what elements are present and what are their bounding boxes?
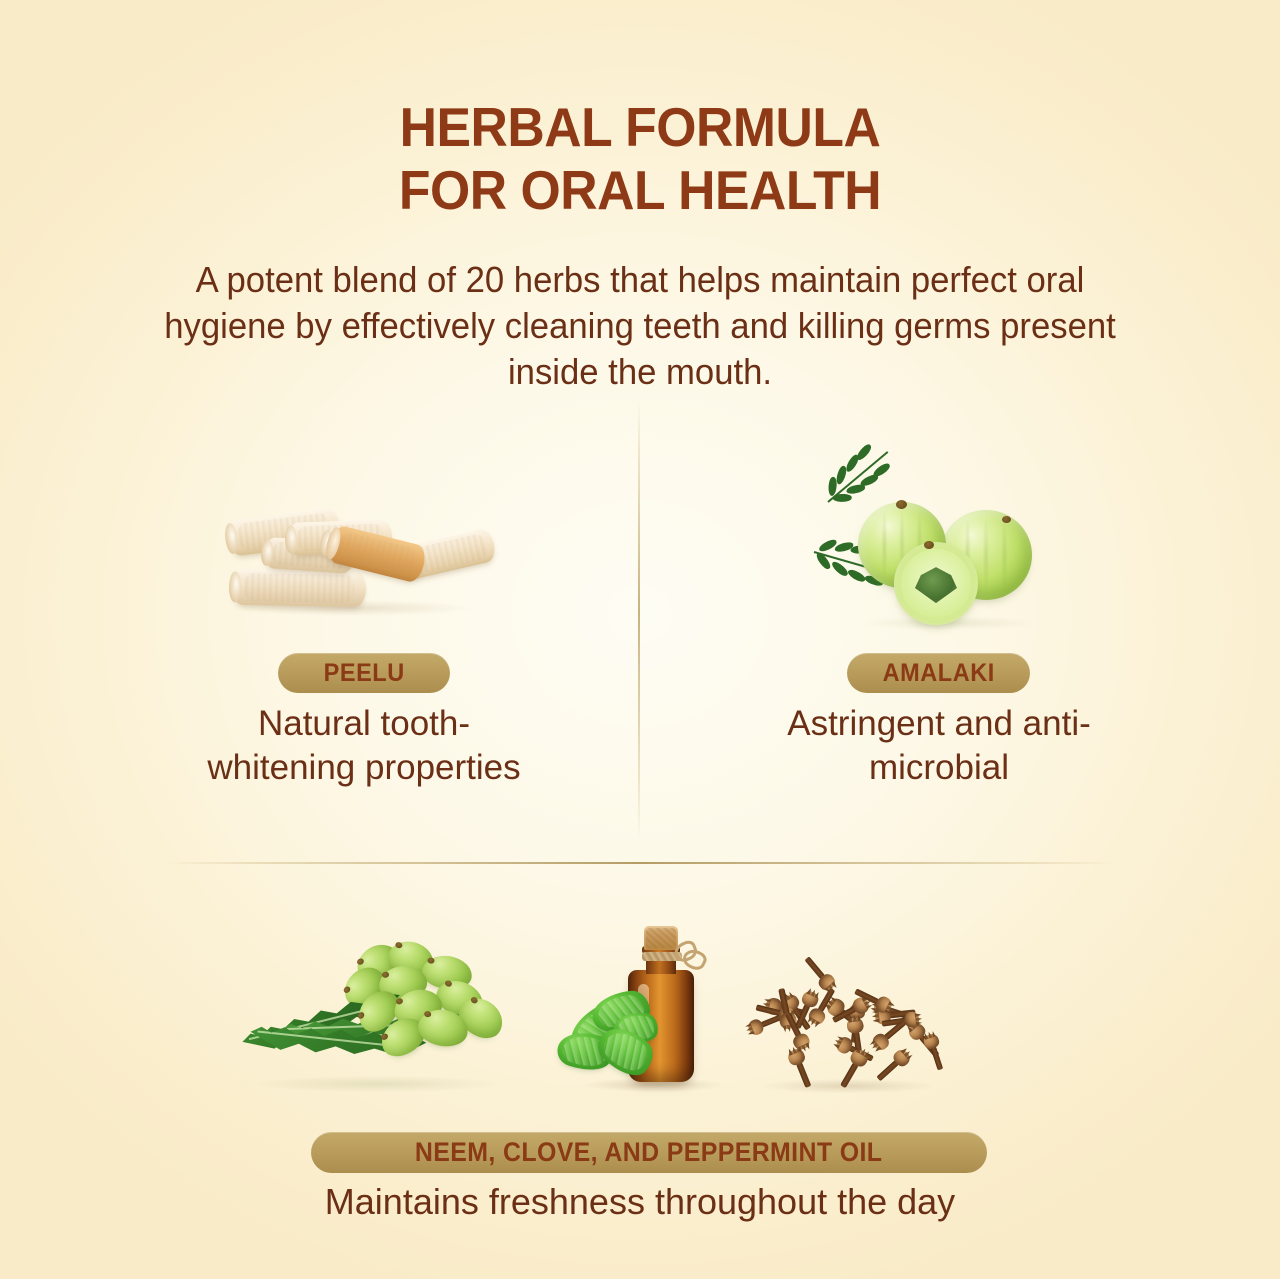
title-line-1: HERBAL FORMULA bbox=[38, 96, 1241, 159]
fern-leaf bbox=[822, 444, 895, 509]
vertical-divider bbox=[638, 398, 640, 842]
peelu-sticks-image bbox=[216, 488, 498, 630]
caption-peelu: Natural tooth-whitening properties bbox=[205, 702, 523, 790]
caption-oils: Maintains freshness throughout the day bbox=[240, 1179, 1040, 1224]
badge-amalaki: AMALAKI bbox=[847, 653, 1030, 693]
badge-oils-label: NEEM, CLOVE, AND PEPPERMINT OIL bbox=[415, 1137, 882, 1168]
fern-leaflet bbox=[854, 443, 873, 462]
badge-amalaki-label: AMALAKI bbox=[882, 659, 994, 688]
amla-berry-halved bbox=[894, 542, 978, 625]
neem-leaves-image bbox=[236, 936, 524, 1100]
badge-peelu: PEELU bbox=[278, 653, 450, 693]
essential-oil-bottle-image bbox=[552, 920, 738, 1100]
title-line-2: FOR ORAL HEALTH bbox=[38, 159, 1241, 222]
badge-neem-clove-peppermint-oil: NEEM, CLOVE, AND PEPPERMINT OIL bbox=[311, 1132, 987, 1173]
cork-stopper bbox=[644, 926, 678, 950]
cloves-image bbox=[750, 975, 946, 1100]
herbal-formula-infographic: HERBAL FORMULA FOR ORAL HEALTH A potent … bbox=[0, 0, 1280, 1279]
amla-stem bbox=[924, 541, 934, 549]
fern-leaflet bbox=[833, 494, 852, 503]
badge-peelu-label: PEELU bbox=[323, 659, 404, 688]
page-title: HERBAL FORMULA FOR ORAL HEALTH bbox=[38, 96, 1241, 221]
twine-bow bbox=[674, 942, 704, 966]
horizontal-divider bbox=[160, 862, 1120, 864]
peelu-stick bbox=[232, 569, 367, 607]
amla-berries-image bbox=[812, 478, 1064, 630]
amla-stem bbox=[896, 500, 907, 509]
fern-leaflet bbox=[846, 567, 866, 584]
page-subtitle: A potent blend of 20 herbs that helps ma… bbox=[160, 257, 1120, 395]
amla-stem bbox=[1002, 516, 1011, 523]
neem-shadow bbox=[258, 1076, 498, 1092]
caption-amalaki: Astringent and anti-microbial bbox=[780, 702, 1098, 790]
